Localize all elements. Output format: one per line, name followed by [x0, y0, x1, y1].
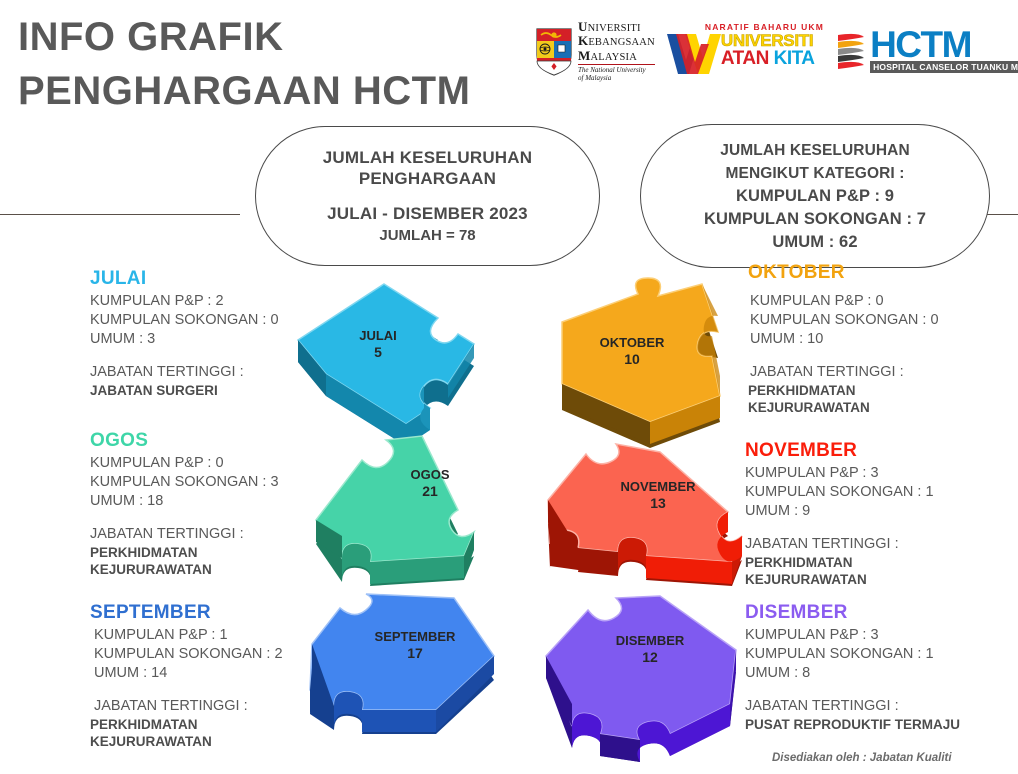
divider-line-left [0, 214, 240, 215]
ukm-word-malaysia: MALAYSIA [578, 49, 655, 64]
ukm-word-universiti: UNIVERSITI [578, 20, 655, 35]
category-callout-line-2: MENGIKUT KATEGORI : [726, 162, 905, 185]
puzzle-piece-disember [538, 592, 753, 767]
ukm-subtitle-line-2: of Malaysia [578, 74, 655, 82]
month-sokongan-september: KUMPULAN SOKONGAN : 2 [90, 645, 283, 664]
month-umum-september: UMUM : 14 [90, 664, 283, 683]
total-callout-period: JULAI - DISEMBER 2023 [327, 202, 528, 225]
puzzle-piece-ogos-icon [308, 430, 523, 615]
month-sokongan-julai: KUMPULAN SOKONGAN : 0 [90, 311, 279, 330]
category-callout-line-1: JUMLAH KESELURUHAN [720, 139, 910, 162]
month-sokongan-oktober: KUMPULAN SOKONGAN : 0 [748, 311, 939, 330]
month-dept-september-line-1: PERKHIDMATAN [90, 716, 283, 733]
month-title-september: SEPTEMBER [90, 602, 283, 624]
month-dept-label-november: JABATAN TERTINGGI : [745, 535, 934, 554]
puzzle-piece-oktober-icon [548, 274, 738, 459]
month-info-julai: JULAI KUMPULAN P&P : 2 KUMPULAN SOKONGAN… [90, 268, 279, 399]
month-pp-september: KUMPULAN P&P : 1 [90, 626, 283, 645]
puzzle-piece-november [540, 442, 755, 617]
month-pp-julai: KUMPULAN P&P : 2 [90, 292, 279, 311]
month-umum-november: UMUM : 9 [745, 502, 934, 521]
month-dept-label-september: JABATAN TERTINGGI : [90, 697, 283, 716]
page-title-line-2: PENGHARGAAN HCTM [18, 64, 538, 118]
universiti-watan-kita-logo: NARATIF BAHARU UKM UNIVERSITI ATAN KITA [665, 23, 824, 79]
total-callout-sum: JUMLAH = 78 [379, 225, 475, 246]
month-sokongan-ogos: KUMPULAN SOKONGAN : 3 [90, 473, 279, 492]
puzzle-piece-disember-icon [538, 592, 753, 767]
logo-bar: UNIVERSITI KEBANGSAAN MALAYSIA The Natio… [534, 20, 1004, 82]
total-callout-line-2: PENGHARGAAN [359, 168, 496, 189]
month-dept-label-disember: JABATAN TERTINGGI : [745, 697, 960, 716]
watan-w-letter [665, 32, 723, 79]
month-title-julai: JULAI [90, 268, 279, 290]
total-callout-line-1: JUMLAH KESELURUHAN [323, 147, 533, 168]
month-umum-oktober: UMUM : 10 [748, 330, 939, 349]
month-umum-julai: UMUM : 3 [90, 330, 279, 349]
hctm-subtitle: HOSPITAL CANSELOR TUANKU MUHRIZ [870, 61, 1018, 73]
watan-w-icon [665, 32, 723, 76]
infographic-page: INFO GRAFIK PENGHARGAAN HCTM [0, 0, 1018, 774]
month-sokongan-november: KUMPULAN SOKONGAN : 1 [745, 483, 934, 502]
month-dept-ogos-line-1: PERKHIDMATAN [90, 544, 279, 561]
page-title: INFO GRAFIK PENGHARGAAN HCTM [18, 10, 538, 118]
month-info-november: NOVEMBER KUMPULAN P&P : 3 KUMPULAN SOKON… [745, 440, 934, 588]
puzzle-piece-september [302, 592, 512, 767]
month-umum-ogos: UMUM : 18 [90, 492, 279, 511]
month-dept-ogos-line-2: KEJURURAWATAN [90, 561, 279, 578]
ukm-shield-icon [534, 25, 574, 77]
month-info-ogos: OGOS KUMPULAN P&P : 0 KUMPULAN SOKONGAN … [90, 430, 279, 578]
ukm-word-kebangsaan: KEBANGSAAN [578, 34, 655, 49]
ukm-wordmark: UNIVERSITI KEBANGSAAN MALAYSIA The Natio… [578, 20, 655, 83]
month-dept-label-oktober: JABATAN TERTINGGI : [748, 363, 939, 382]
hctm-logo: HCTM HOSPITAL CANSELOR TUANKU MUHRIZ [834, 29, 1018, 72]
month-dept-september-line-2: KEJURURAWATAN [90, 733, 283, 750]
watan-line-universiti: UNIVERSITI [721, 32, 815, 49]
page-title-line-1: INFO GRAFIK [18, 10, 538, 64]
month-pp-ogos: KUMPULAN P&P : 0 [90, 454, 279, 473]
month-dept-november-line-2: KEJURURAWATAN [745, 571, 934, 588]
puzzle-piece-oktober [548, 274, 738, 459]
month-title-november: NOVEMBER [745, 440, 934, 462]
month-umum-disember: UMUM : 8 [745, 664, 960, 683]
month-dept-julai: JABATAN SURGERI [90, 382, 279, 399]
month-dept-oktober-line-1: PERKHIDMATAN [748, 382, 939, 399]
month-title-ogos: OGOS [90, 430, 279, 452]
puzzle-piece-ogos [308, 430, 523, 615]
watan-line-atan-kita: ATAN KITA [721, 49, 815, 68]
month-title-oktober: OKTOBER [748, 262, 939, 284]
month-sokongan-disember: KUMPULAN SOKONGAN : 1 [745, 645, 960, 664]
category-breakdown-callout: JUMLAH KESELURUHAN MENGIKUT KATEGORI : K… [640, 124, 990, 268]
month-pp-oktober: KUMPULAN P&P : 0 [748, 292, 939, 311]
ukm-crest-logo: UNIVERSITI KEBANGSAAN MALAYSIA The Natio… [534, 20, 655, 83]
month-dept-november-line-1: PERKHIDMATAN [745, 554, 934, 571]
month-info-september: SEPTEMBER KUMPULAN P&P : 1 KUMPULAN SOKO… [90, 602, 283, 750]
category-callout-sokongan: KUMPULAN SOKONGAN : 7 [704, 208, 926, 231]
total-awards-callout: JUMLAH KESELURUHAN PENGHARGAAN JULAI - D… [255, 126, 600, 266]
month-dept-disember: PUSAT REPRODUKTIF TERMAJU [745, 716, 960, 733]
month-dept-oktober-line-2: KEJURURAWATAN [748, 399, 939, 416]
category-callout-umum: UMUM : 62 [772, 231, 857, 254]
ukm-subtitle-line-1: The National University [578, 66, 655, 74]
credit-note: Disediakan oleh : Jabatan Kualiti [772, 752, 952, 764]
puzzle-piece-november-icon [540, 442, 755, 617]
month-dept-label-ogos: JABATAN TERTINGGI : [90, 525, 279, 544]
month-title-disember: DISEMBER [745, 602, 960, 624]
month-pp-november: KUMPULAN P&P : 3 [745, 464, 934, 483]
hctm-helix-icon [834, 30, 868, 72]
hctm-wordmark: HCTM [870, 29, 1018, 60]
month-info-oktober: OKTOBER KUMPULAN P&P : 0 KUMPULAN SOKONG… [748, 262, 939, 416]
ukm-divider [578, 64, 655, 65]
month-dept-label-julai: JABATAN TERTINGGI : [90, 363, 279, 382]
month-pp-disember: KUMPULAN P&P : 3 [745, 626, 960, 645]
puzzle-piece-september-icon [302, 592, 512, 767]
category-callout-pp: KUMPULAN P&P : 9 [736, 185, 894, 208]
month-info-disember: DISEMBER KUMPULAN P&P : 3 KUMPULAN SOKON… [745, 602, 960, 733]
